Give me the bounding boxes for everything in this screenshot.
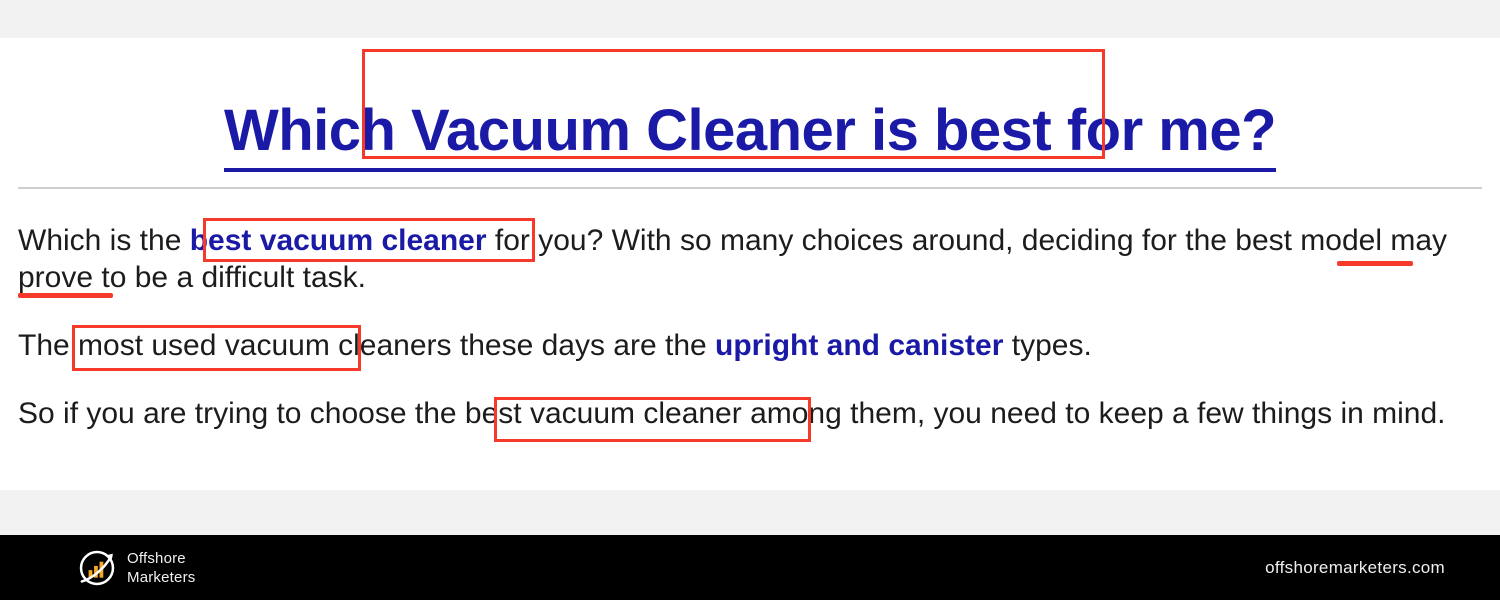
article-body: Which is the best vacuum cleaner for you… <box>18 222 1480 432</box>
text-run: Which is the <box>18 224 190 257</box>
paragraph-2: The most used vacuum cleaners these days… <box>18 327 1480 364</box>
page-title: Which Vacuum Cleaner is best for me? <box>224 101 1276 172</box>
paragraph-1: Which is the best vacuum cleaner for you… <box>18 222 1480 296</box>
brand-lockup[interactable]: Offshore Marketers <box>76 547 195 589</box>
offshore-marketers-logo-icon <box>76 547 118 589</box>
text-run: So if you are trying to choose the best … <box>18 397 1446 430</box>
text-run: types. <box>1003 329 1091 362</box>
section-divider <box>18 187 1482 189</box>
page-root: Which Vacuum Cleaner is best for me? Whi… <box>0 0 1500 600</box>
paragraph-3: So if you are trying to choose the best … <box>18 395 1480 432</box>
brand-name-line2: Marketers <box>127 568 195 587</box>
text-run: The most used vacuum cleaners these days… <box>18 329 715 362</box>
keyword-link-upright-and-canister[interactable]: upright and canister <box>715 329 1003 362</box>
keyword-link-best-vacuum-cleaner[interactable]: best vacuum cleaner <box>190 224 487 257</box>
site-url[interactable]: offshoremarketers.com <box>1265 558 1445 578</box>
site-footer: Offshore Marketers offshoremarketers.com <box>0 535 1500 600</box>
brand-name-line1: Offshore <box>127 549 195 568</box>
brand-name: Offshore Marketers <box>127 549 195 587</box>
